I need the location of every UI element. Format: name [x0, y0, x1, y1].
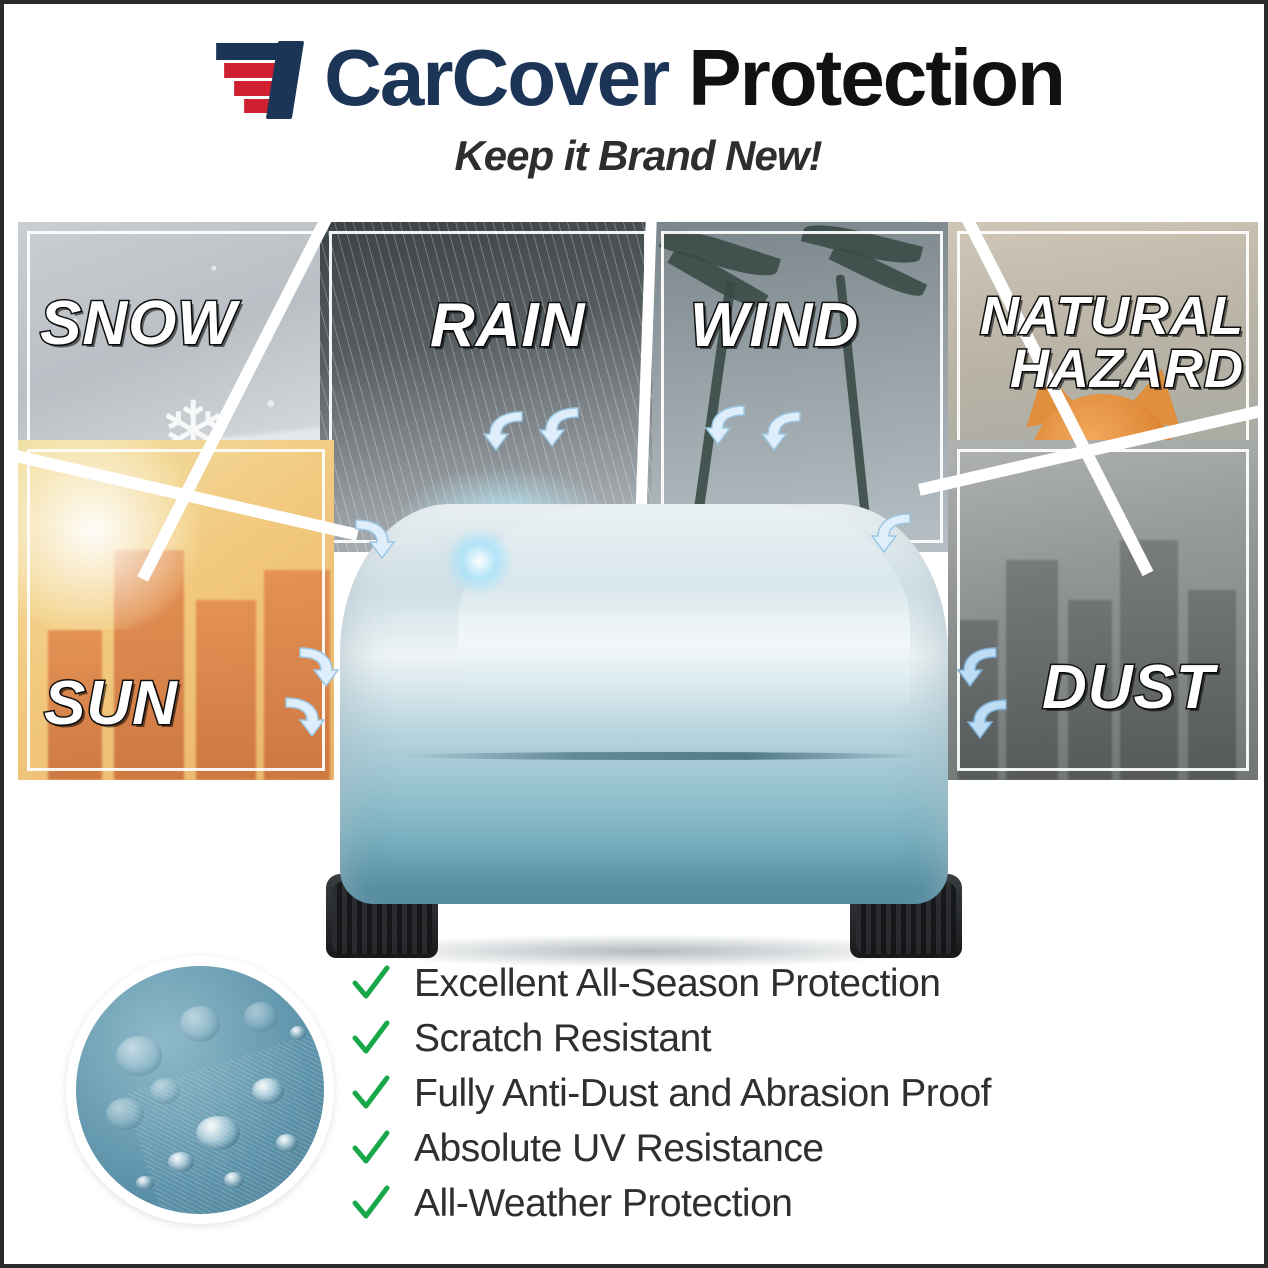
- list-item: All-Weather Protection: [350, 1176, 1170, 1231]
- panel-label-rain: RAIN: [430, 296, 586, 357]
- feature-label: Excellent All-Season Protection: [414, 962, 940, 1006]
- panel-label-sun: SUN: [44, 674, 178, 735]
- brand-lockup: CarCover Protection: [4, 30, 1268, 126]
- green-check-icon: [350, 1128, 392, 1170]
- header: CarCover Protection Keep it Brand New!: [4, 30, 1268, 180]
- brand-name: CarCover: [324, 38, 668, 118]
- deflection-arrow-icon: [760, 408, 814, 452]
- car-cover-roof: [458, 504, 910, 704]
- feature-label: All-Weather Protection: [414, 1182, 792, 1226]
- green-check-icon: [350, 963, 392, 1005]
- panel-label-natural-hazard: NATURAL HAZARD: [944, 290, 1244, 396]
- deflection-arrow-icon: [272, 694, 326, 738]
- list-item: Excellent All-Season Protection: [350, 956, 1170, 1011]
- deflection-arrow-icon: [482, 408, 536, 452]
- list-item: Scratch Resistant: [350, 1011, 1170, 1066]
- tagline: Keep it Brand New!: [4, 132, 1268, 180]
- panel-label-wind: WIND: [690, 296, 859, 357]
- car-cover-seam: [400, 752, 920, 760]
- green-check-icon: [350, 1183, 392, 1225]
- icarcover-flag-logo-icon: [212, 35, 320, 121]
- water-beading-fabric-swatch-icon: [66, 956, 334, 1224]
- deflection-arrow-icon: [538, 404, 592, 448]
- deflection-arrow-icon: [966, 696, 1020, 740]
- deflection-arrow-icon: [342, 516, 396, 560]
- product-infographic: CarCover Protection Keep it Brand New! ❄: [0, 0, 1268, 1268]
- feature-label: Absolute UV Resistance: [414, 1127, 824, 1171]
- feature-label: Scratch Resistant: [414, 1017, 711, 1061]
- list-item: Fully Anti-Dust and Abrasion Proof: [350, 1066, 1170, 1121]
- feature-label: Fully Anti-Dust and Abrasion Proof: [414, 1072, 991, 1116]
- shine-icon: [444, 526, 514, 596]
- green-check-icon: [350, 1073, 392, 1115]
- green-check-icon: [350, 1018, 392, 1060]
- panel-label-snow: SNOW: [40, 294, 237, 355]
- deflection-arrow-icon: [870, 510, 924, 554]
- car-cover-body: [340, 504, 948, 904]
- list-item: Absolute UV Resistance: [350, 1121, 1170, 1176]
- deflection-arrow-icon: [956, 644, 1010, 688]
- feature-list: Excellent All-Season Protection Scratch …: [350, 956, 1170, 1231]
- deflection-arrow-icon: [286, 644, 340, 688]
- deflection-arrow-icon: [704, 402, 758, 446]
- panel-label-dust: DUST: [1042, 658, 1215, 719]
- brand-suffix: Protection: [688, 38, 1064, 118]
